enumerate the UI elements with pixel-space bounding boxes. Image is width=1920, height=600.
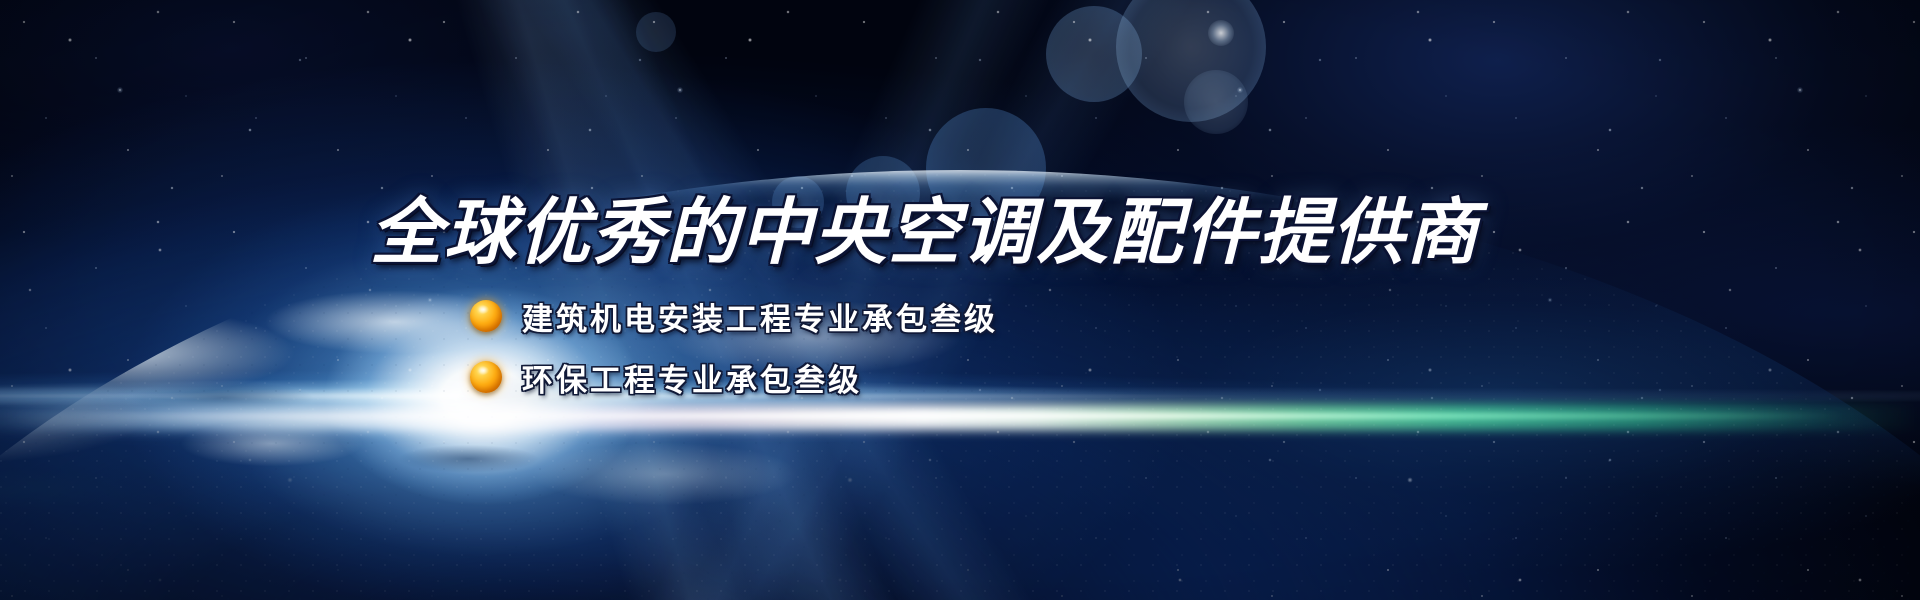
bullet-sphere-icon <box>470 361 502 393</box>
lens-flare-orb <box>1116 0 1266 122</box>
banner-content: 全球优秀的中央空调及配件提供商 建筑机电安装工程专业承包叁级 环保工程专业承包叁… <box>0 196 1920 416</box>
banner-headline: 全球优秀的中央空调及配件提供商 <box>370 196 1920 272</box>
lens-flare-orb <box>636 12 676 52</box>
bullet-label: 环保工程专业承包叁级 <box>522 355 862 400</box>
bullet-sphere-icon <box>470 300 502 332</box>
lens-flare-orb <box>1184 70 1248 134</box>
hero-banner: 全球优秀的中央空调及配件提供商 建筑机电安装工程专业承包叁级 环保工程专业承包叁… <box>0 0 1920 600</box>
lens-flare-glint <box>1208 20 1234 46</box>
bullet-label: 建筑机电安装工程专业承包叁级 <box>522 294 998 339</box>
banner-bullet-list: 建筑机电安装工程专业承包叁级 环保工程专业承包叁级 <box>300 294 1920 400</box>
bullet-item: 建筑机电安装工程专业承包叁级 <box>470 294 1920 339</box>
bullet-item: 环保工程专业承包叁级 <box>470 355 1920 400</box>
lens-flare-orb <box>1046 6 1142 102</box>
